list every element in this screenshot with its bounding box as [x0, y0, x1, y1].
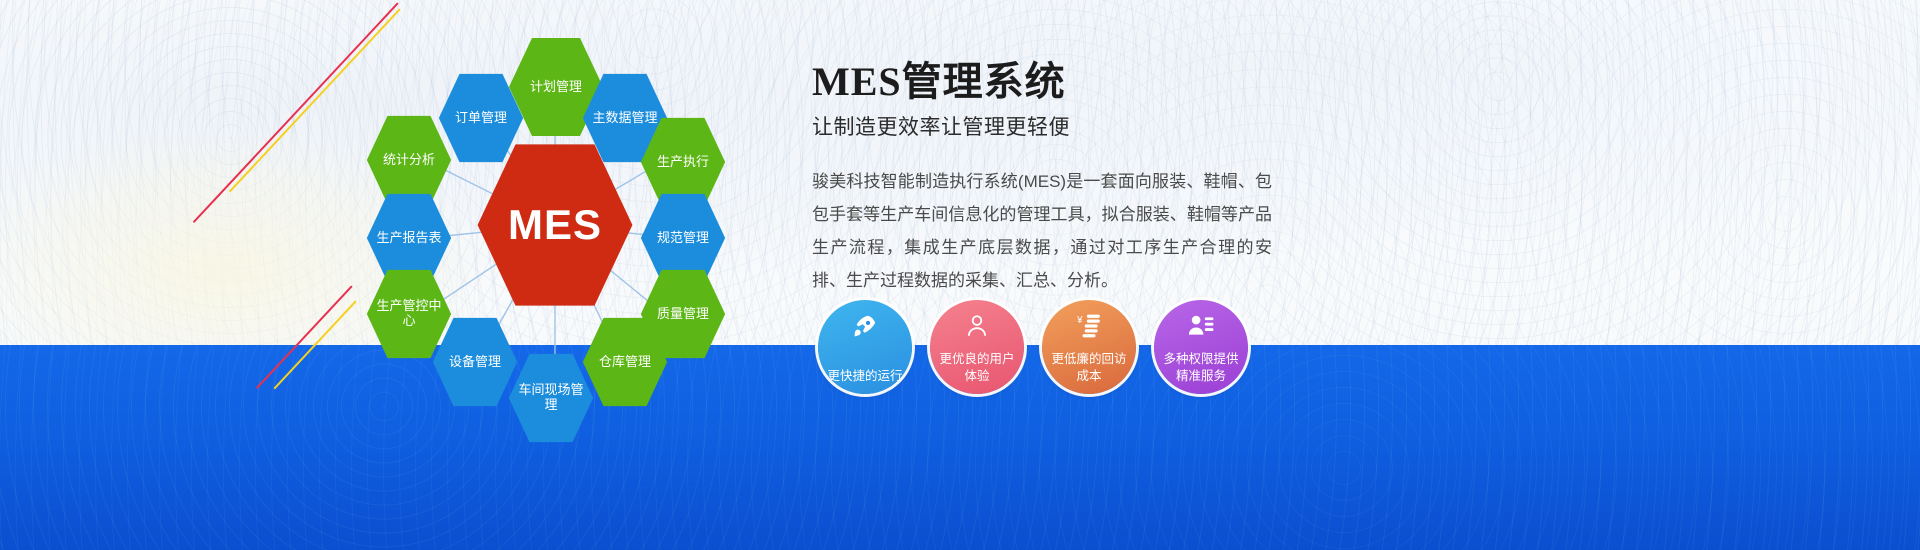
hero-banner: 计划管理 订单管理 主数据管理 生产执行 统计分析 规范管理 生产报告表 质量管… — [0, 0, 1920, 550]
badge-label: 更快捷的运行 — [819, 368, 910, 385]
page-title: MES管理系统 — [812, 60, 1282, 105]
hex-label: 计划管理 — [524, 80, 588, 95]
rocket-icon — [852, 313, 878, 339]
page-subtitle: 让制造更效率让管理更轻便 — [812, 111, 1282, 141]
hex-label: 主数据管理 — [586, 111, 663, 126]
user-icon — [964, 313, 990, 339]
hex-label: 设备管理 — [443, 355, 507, 370]
coins-icon: ¥ — [1076, 313, 1102, 339]
badge-label: 更低廉的回访成本 — [1042, 351, 1136, 385]
badge-label: 更优良的用户体验 — [930, 351, 1024, 385]
permissions-icon — [1188, 313, 1214, 339]
hex-label: 质量管理 — [651, 307, 715, 322]
svg-text:¥: ¥ — [1076, 315, 1083, 326]
mes-hexagon-diagram: 计划管理 订单管理 主数据管理 生产执行 统计分析 规范管理 生产报告表 质量管… — [330, 10, 780, 450]
hero-copy: MES管理系统 让制造更效率让管理更轻便 骏美科技智能制造执行系统(MES)是一… — [812, 60, 1282, 297]
feature-badge-list: 更快捷的运行 更优良的用户体验 ¥ 更低廉的回访成本 — [818, 300, 1248, 394]
hex-label: 规范管理 — [651, 231, 715, 246]
badge-label: 多种权限提供精准服务 — [1154, 351, 1248, 385]
hex-label: 统计分析 — [377, 153, 441, 168]
hex-core-label: MES — [502, 201, 608, 249]
hex-label: 生产报告表 — [370, 231, 447, 246]
hex-label: 订单管理 — [449, 111, 513, 126]
feature-badge-permissions-precise-service[interactable]: 多种权限提供精准服务 — [1154, 300, 1248, 394]
hex-label: 仓库管理 — [593, 355, 657, 370]
hex-label: 生产执行 — [651, 155, 715, 170]
hero-description: 骏美科技智能制造执行系统(MES)是一套面向服装、鞋帽、包包手套等生产车间信息化… — [812, 165, 1272, 298]
hex-label: 生产管控中心 — [366, 299, 452, 329]
feature-badge-better-user-experience[interactable]: 更优良的用户体验 — [930, 300, 1024, 394]
feature-badge-lower-revisit-cost[interactable]: ¥ 更低廉的回访成本 — [1042, 300, 1136, 394]
hex-label: 车间现场管理 — [508, 383, 594, 413]
feature-badge-faster-operation[interactable]: 更快捷的运行 — [818, 300, 912, 394]
